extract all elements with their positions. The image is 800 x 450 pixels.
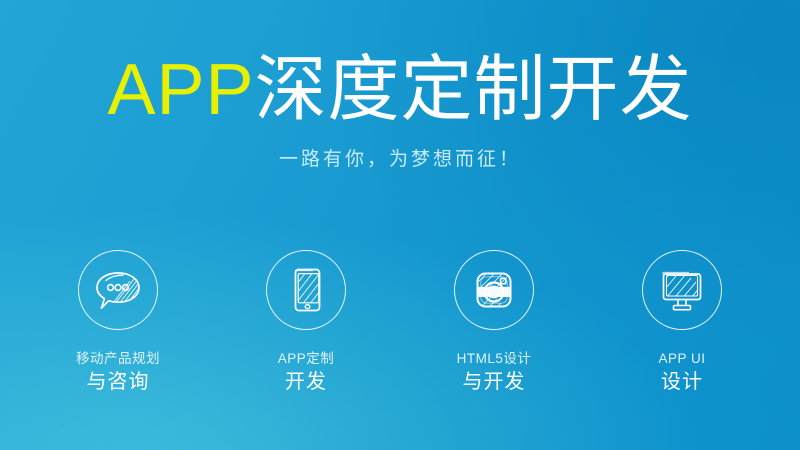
caption-line-2: 设计: [658, 372, 705, 393]
promo-banner: APP深度定制开发 一路有你，为梦想而征！: [0, 0, 800, 450]
feature-list: 移动产品规划 与咨询: [24, 250, 776, 393]
caption-app-ui: APP UI 设计: [658, 352, 705, 393]
caption-html5: HTML5设计 与开发: [457, 352, 532, 393]
camera-icon: [469, 265, 519, 315]
icon-circle-html5: [454, 250, 534, 330]
caption-consulting: 移动产品规划 与咨询: [76, 352, 160, 393]
caption-line-1: HTML5设计: [457, 352, 532, 366]
icon-circle-app-ui: [642, 250, 722, 330]
icon-circle-app-development: [266, 250, 346, 330]
caption-line-1: APP定制: [278, 352, 335, 366]
caption-line-2: 与咨询: [76, 372, 160, 393]
title-chinese-text: 深度定制开发: [255, 50, 693, 130]
caption-app-development: APP定制 开发: [278, 352, 335, 393]
page-title: APP深度定制开发: [0, 54, 800, 126]
subtitle: 一路有你，为梦想而征！: [0, 126, 800, 171]
title-block: APP深度定制开发 一路有你，为梦想而征！: [0, 54, 800, 171]
caption-line-2: 开发: [278, 372, 335, 393]
caption-line-1: APP UI: [658, 352, 705, 366]
tablet-icon: [285, 264, 327, 316]
feature-item-app-ui[interactable]: APP UI 设计: [588, 250, 776, 393]
feature-item-html5[interactable]: HTML5设计 与开发: [400, 250, 588, 393]
feature-item-consulting[interactable]: 移动产品规划 与咨询: [24, 250, 212, 393]
icon-circle-consulting: [78, 250, 158, 330]
monitor-icon: [655, 266, 709, 314]
caption-line-1: 移动产品规划: [76, 352, 160, 366]
speech-bubble-icon: [92, 267, 144, 313]
title-app-text: APP: [107, 50, 254, 130]
caption-line-2: 与开发: [457, 372, 532, 393]
feature-item-app-development[interactable]: APP定制 开发: [212, 250, 400, 393]
